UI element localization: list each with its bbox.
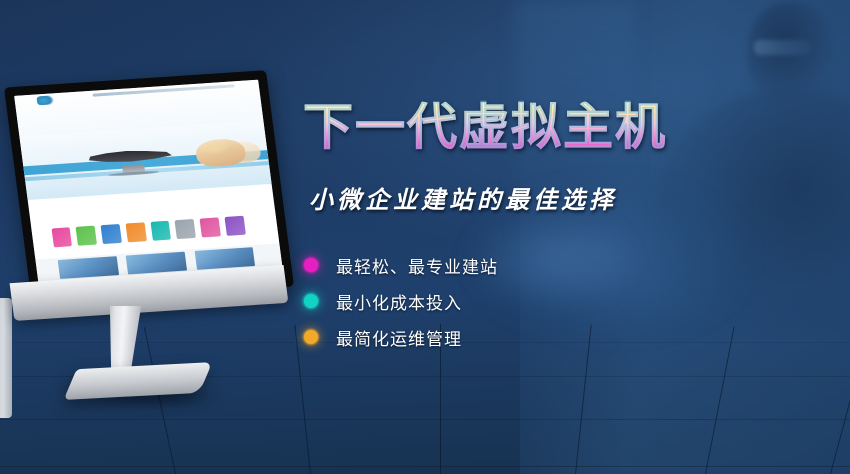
bullet-dot-icon	[298, 324, 324, 350]
person-glasses-shape	[754, 40, 810, 55]
feature-bullet-label: 最简化运维管理	[336, 325, 462, 350]
subheadline-text: 小微企业建站的最佳选择	[309, 180, 617, 215]
person-arm-shape	[622, 184, 742, 334]
website-app-icon	[101, 224, 122, 244]
bullet-dot-icon	[298, 288, 324, 314]
website-app-icon	[225, 216, 246, 236]
website-app-icon	[150, 221, 171, 241]
website-app-icon	[51, 227, 72, 247]
site-logo-icon	[36, 95, 54, 105]
bullet-dot-shape	[304, 330, 318, 344]
website-app-icon	[200, 218, 221, 238]
website-hero-person-primary	[195, 137, 247, 167]
feature-bullet-label: 最小化成本投入	[336, 289, 462, 314]
bullet-dot-icon	[298, 252, 324, 278]
website-app-icon	[175, 219, 196, 239]
website-app-icon	[76, 226, 97, 246]
floor-grid-line-vertical	[575, 325, 592, 474]
person-silhouette	[622, 0, 850, 324]
bullet-dot-shape	[304, 258, 318, 272]
floor-grid-line-vertical	[830, 329, 850, 474]
website-screenshot	[14, 80, 282, 283]
bullet-dot-shape	[304, 294, 318, 308]
floor-grid-line-horizontal	[0, 466, 850, 467]
feature-bullet-list: 最轻松、最专业建站最小化成本投入最简化运维管理	[298, 247, 498, 355]
feature-bullet-label: 最轻松、最专业建站	[336, 253, 498, 278]
headline-title: 下一代虚拟主机	[303, 102, 667, 152]
feature-bullet-item: 最轻松、最专业建站	[298, 247, 498, 283]
website-app-icon	[125, 223, 146, 243]
promo-banner: 下一代虚拟主机 小微企业建站的最佳选择 最轻松、最专业建站最小化成本投入最简化运…	[0, 0, 850, 474]
floor-grid-line-horizontal	[0, 419, 850, 420]
secondary-device-edge	[0, 298, 12, 418]
feature-bullet-item: 最简化运维管理	[298, 319, 498, 355]
website-nav-placeholder	[93, 85, 235, 97]
imac-desktop-computer	[4, 78, 304, 408]
website-app-icon-row	[51, 215, 258, 247]
floor-grid-line-vertical	[705, 327, 735, 474]
feature-bullet-item: 最小化成本投入	[298, 283, 498, 319]
